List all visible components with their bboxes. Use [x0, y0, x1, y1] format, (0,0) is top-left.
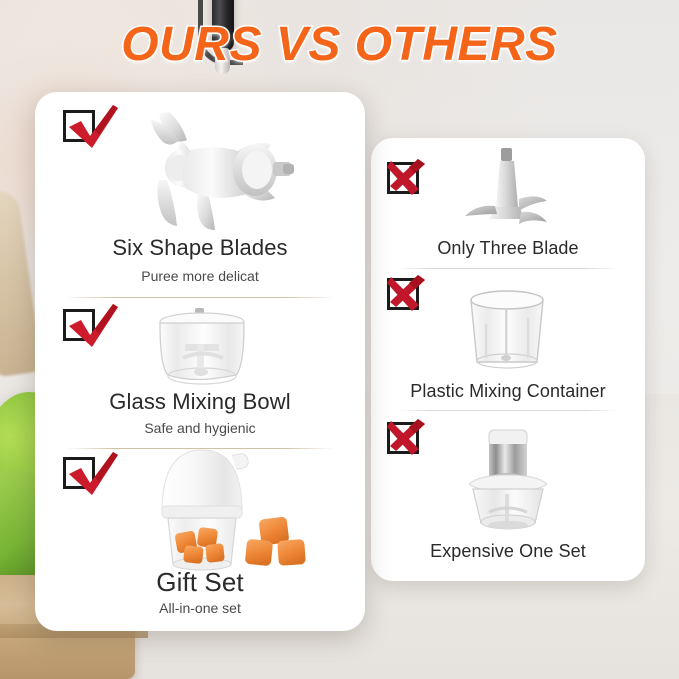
ours-row-subtitle: Puree more delicat [35, 268, 365, 284]
check-mark-icon [63, 309, 101, 344]
check-mark-glyph [61, 450, 121, 500]
others-row-title: Expensive One Set [371, 541, 645, 562]
others-row-title: Only Three Blade [371, 238, 645, 259]
expensive-one-set-appliance-image [449, 426, 567, 534]
others-divider [397, 268, 619, 269]
glass-mixing-bowl-image [145, 302, 259, 390]
cross-mark-icon [387, 278, 425, 313]
others-divider [397, 410, 619, 411]
cross-mark-icon [387, 422, 425, 457]
ours-card: Six Shape Blades Puree more delicat [35, 92, 365, 631]
six-blade-assembly-image [131, 98, 303, 240]
check-mark-glyph [61, 302, 121, 352]
cross-mark-glyph [385, 155, 431, 199]
gift-set-chopper-image [140, 440, 320, 572]
ours-row-title: Gift Set [35, 567, 365, 598]
page-title: OURS VS OTHERS [0, 17, 679, 72]
three-blade-assembly-image [459, 144, 555, 236]
ours-row-subtitle: All-in-one set [35, 600, 365, 616]
ours-divider [65, 297, 335, 298]
cross-mark-glyph [385, 271, 431, 315]
infographic-canvas: OURS VS OTHERS [0, 0, 679, 679]
ours-row-title: Six Shape Blades [35, 235, 365, 261]
check-mark-glyph [61, 103, 121, 153]
cross-mark-glyph [385, 415, 431, 459]
plastic-mixing-container-image [455, 288, 559, 372]
ours-row-subtitle: Safe and hygienic [35, 420, 365, 436]
ours-row-title: Glass Mixing Bowl [35, 389, 365, 415]
check-mark-icon [63, 110, 101, 145]
others-card: Only Three Blade [371, 138, 645, 581]
check-mark-icon [63, 457, 101, 492]
others-row-title: Plastic Mixing Container [371, 381, 645, 402]
cross-mark-icon [387, 162, 425, 197]
